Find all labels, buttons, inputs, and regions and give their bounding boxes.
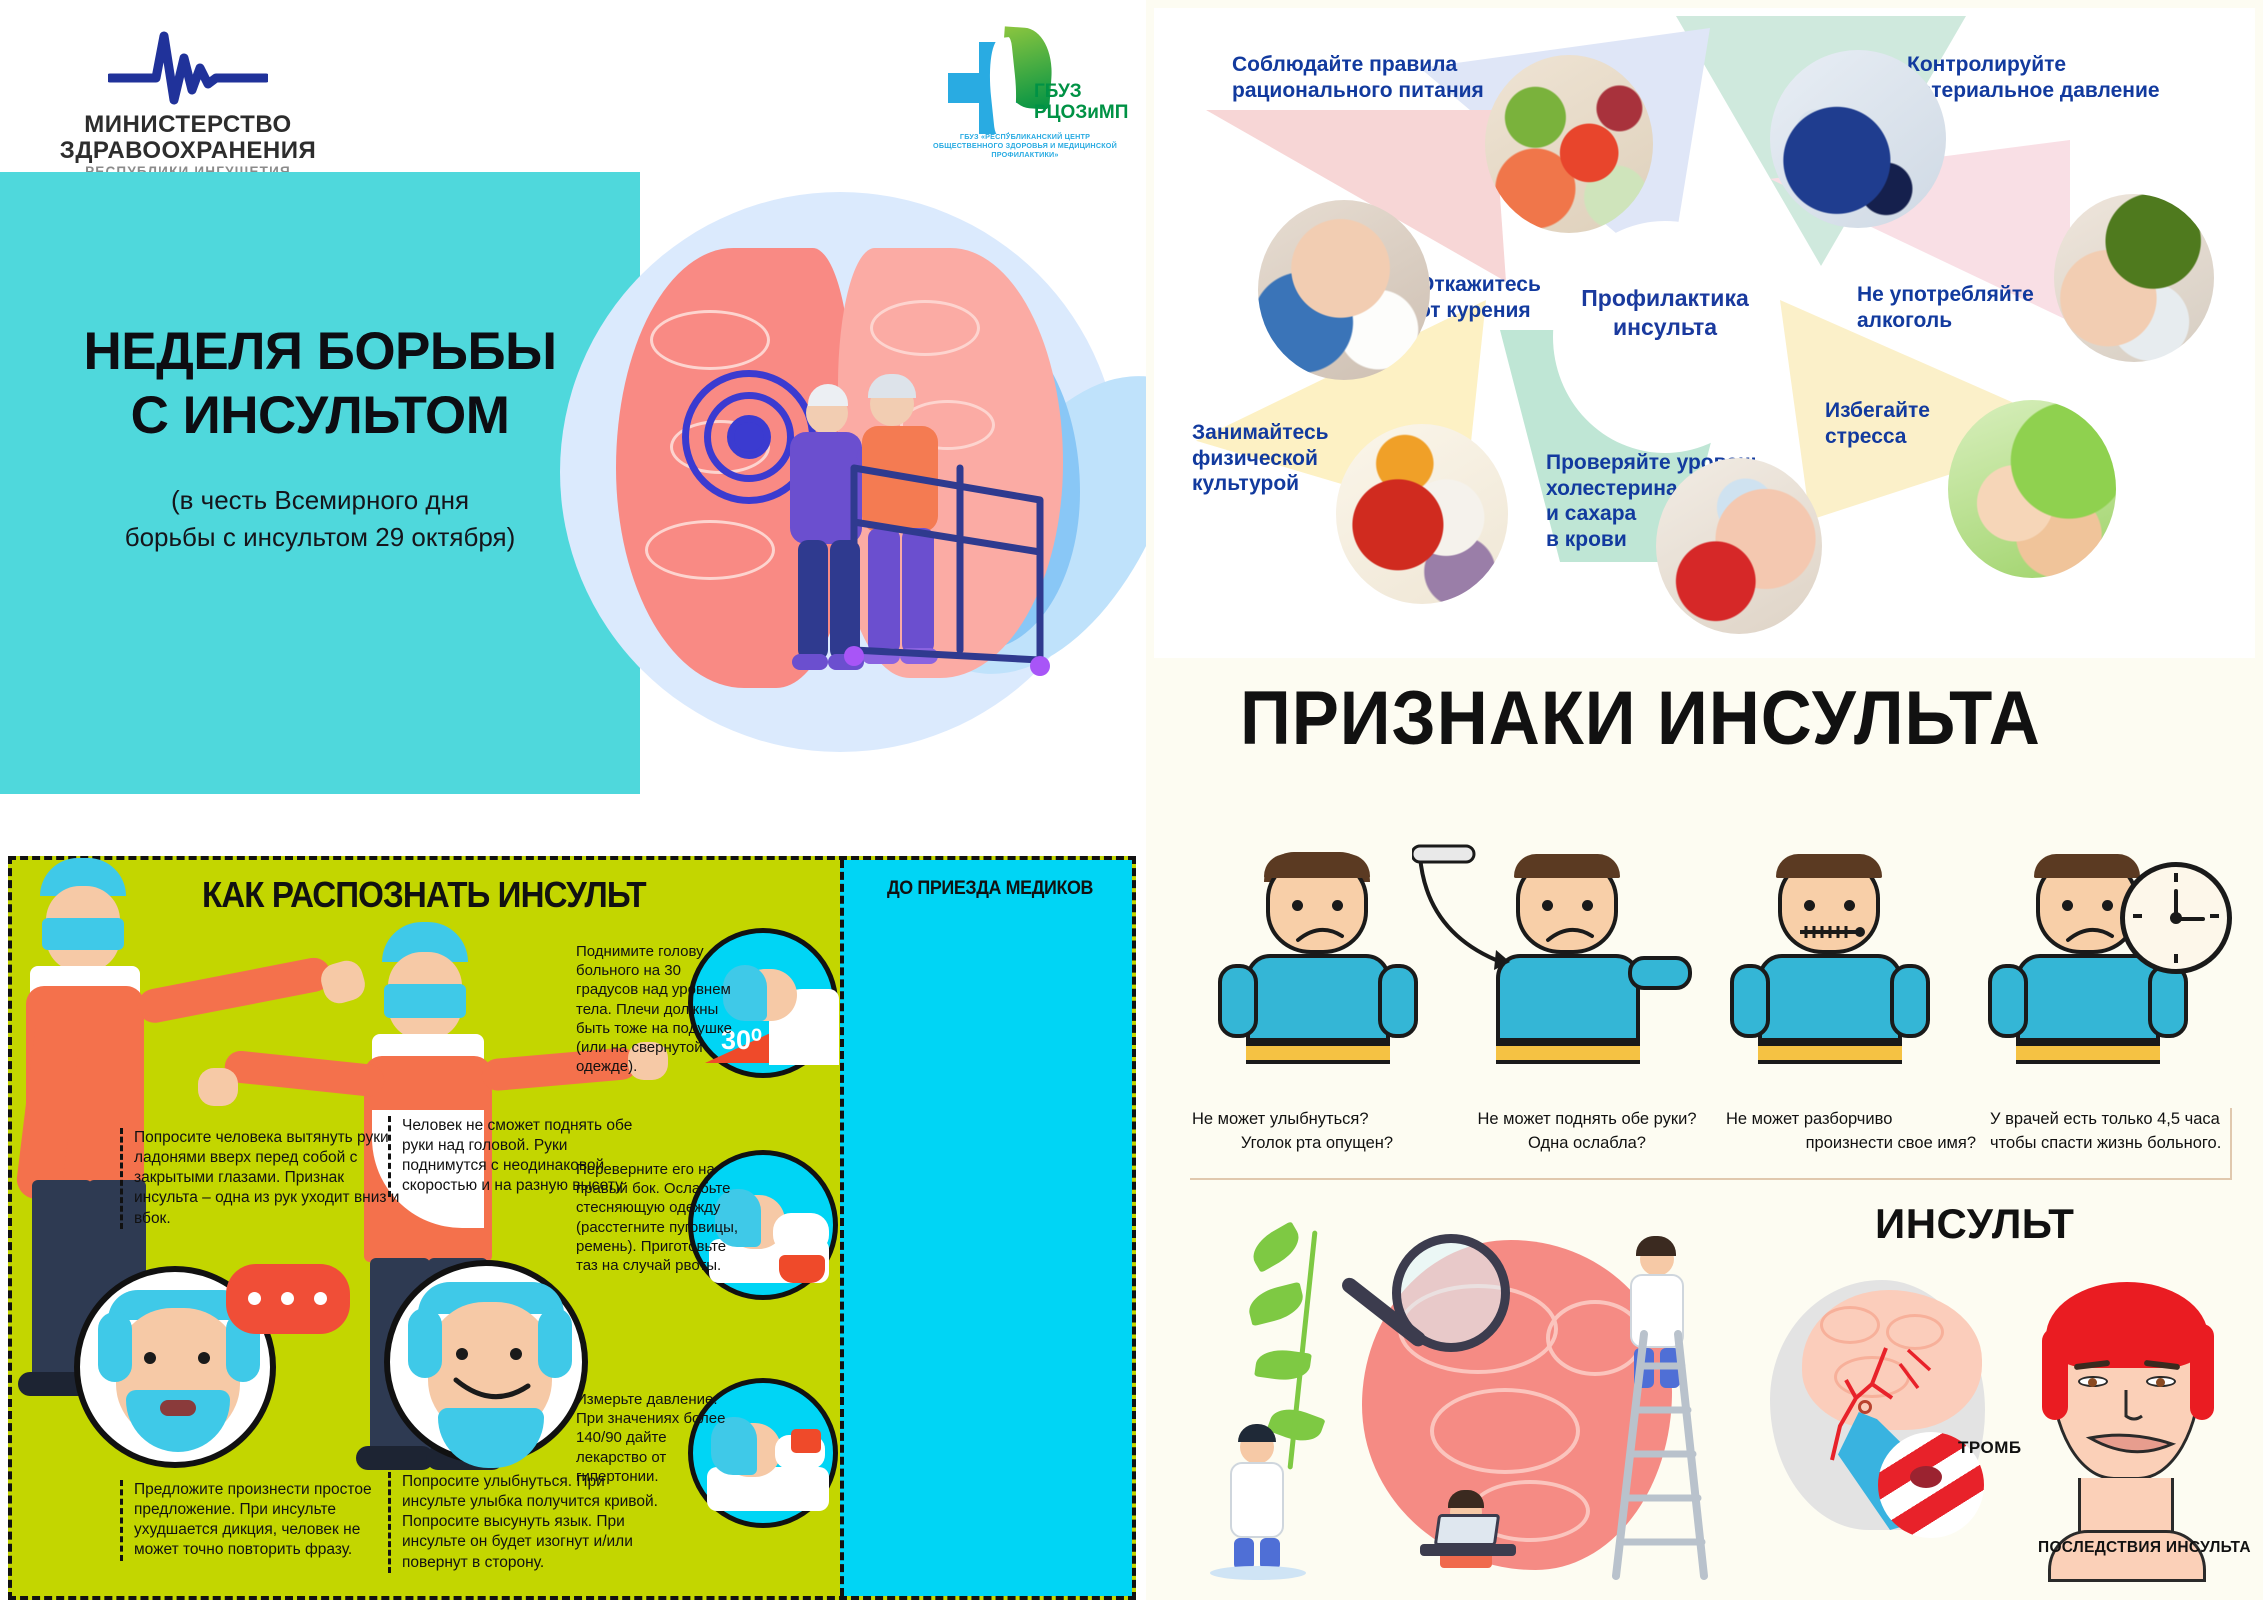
recognize-panel-header: КАК РАСПОЗНАТЬ ИНСУЛЬТ xyxy=(12,860,842,926)
brain-gyrus xyxy=(650,310,770,370)
recognize-text-smile: Попросите улыбнуться. При инсульте улыбк… xyxy=(388,1472,668,1573)
prevention-label-nutrition: Соблюдайте правила рационального питания xyxy=(1232,52,1484,103)
gbuz-abbr-line1: ГБУЗ xyxy=(1034,82,1126,103)
caption-divider xyxy=(1190,1178,2232,1180)
sign-figure-arms xyxy=(1468,852,1692,1082)
ministry-logo-name: МИНИСТЕРСТВО ЗДРАВООХРАНЕНИЯ xyxy=(58,112,318,164)
stroke-consequence-label: ПОСЛЕДСТВИЯ ИНСУЛЬТА xyxy=(2038,1539,2251,1557)
stroke-section-title: ИНСУЛЬТ xyxy=(1875,1200,2074,1248)
recognize-text-arms-forward: Попросите человека вытянуть руки ладоням… xyxy=(120,1128,402,1229)
ministry-logo-line2: ЗДРАВООХРАНЕНИЯ xyxy=(58,138,318,164)
prevention-label-alcohol: Не употребляйте алкоголь xyxy=(1857,282,2034,333)
photo-pouring-alcohol xyxy=(2054,194,2214,362)
zipper-mouth-icon xyxy=(1796,918,1868,948)
prevention-center-circle: Профилактика инсульта xyxy=(1560,228,1770,446)
thrombus-label: ТРОМБ xyxy=(1958,1438,2022,1458)
sign-caption-arms: Не может поднять обе руки? Одна ослабла? xyxy=(1448,1108,1726,1156)
ministry-logo: МИНИСТЕРСТВО ЗДРАВООХРАНЕНИЯ РЕСПУБЛИКИ … xyxy=(58,28,318,158)
gbuz-logo: ГБУЗ РЦОЗиМП ГБУЗ «РЕСПУБЛИКАНСКИЙ ЦЕНТР… xyxy=(930,28,1120,168)
prevention-label-blood-pressure: Контролируйте артериальное давление xyxy=(1907,52,2160,103)
prevention-label-stress: Избегайте стресса xyxy=(1825,398,1930,449)
prevention-center-line1: Профилактика xyxy=(1560,284,1770,313)
speech-bubble xyxy=(226,1264,350,1334)
signs-section-title: ПРИЗНАКИ ИНСУЛЬТА xyxy=(1240,675,2041,762)
prevention-label-smoking: Откажитесь от курения xyxy=(1418,272,1541,323)
gbuz-logo-subtitle: ГБУЗ «РЕСПУБЛИКАНСКИЙ ЦЕНТР ОБЩЕСТВЕННОГ… xyxy=(930,132,1120,159)
brain-illustration xyxy=(470,170,1136,800)
infographic-page: МИНИСТЕРСТВО ЗДРАВООХРАНЕНИЯ РЕСПУБЛИКИ … xyxy=(0,0,2263,1600)
sign-figure-smile xyxy=(1218,852,1418,1082)
drooping-mouth-icon xyxy=(2084,1428,2180,1466)
arrow-arm-falling-icon xyxy=(1412,838,1542,994)
brain-gyrus xyxy=(870,300,980,356)
prevention-label-physical-activity: Занимайтесь физической культурой xyxy=(1192,420,1329,497)
before-medics-text-pressure: Измерьте давление. При значениях более 1… xyxy=(576,1390,741,1486)
sign-caption-speech: Не может разборчиво произнести свое имя? xyxy=(1726,1108,1976,1156)
recognize-text-speech: Предложите произнести простое предложени… xyxy=(120,1480,380,1561)
pulse-wave-icon xyxy=(108,28,268,114)
prevention-center-line2: инсульта xyxy=(1560,313,1770,342)
photo-glucometer xyxy=(1656,458,1822,634)
prevention-center-label: Профилактика инсульта xyxy=(1560,284,1770,342)
left-column: МИНИСТЕРСТВО ЗДРАВООХРАНЕНИЯ РЕСПУБЛИКИ … xyxy=(0,0,1136,1600)
before-medics-panel: ДО ПРИЕЗДА МЕДИКОВ 30⁰ Поднимите голову … xyxy=(840,860,1132,1596)
recognize-stroke-panel: КАК РАСПОЗНАТЬ ИНСУЛЬТ xyxy=(8,856,1136,1600)
photo-breaking-cigarette xyxy=(1258,200,1430,380)
photo-blood-pressure-monitor xyxy=(1770,50,1946,228)
sign-figure-speech xyxy=(1730,852,1930,1082)
photo-happy-family xyxy=(1948,400,2116,578)
ministry-logo-line1: МИНИСТЕРСТВО xyxy=(58,112,318,138)
sign-caption-smile: Не может улыбнуться? Уголок рта опущен? xyxy=(1192,1108,1442,1156)
before-medics-title: ДО ПРИЕЗДА МЕДИКОВ xyxy=(853,878,1127,900)
recognize-panel-title: КАК РАСПОЗНАТЬ ИНСУЛЬТ xyxy=(202,874,646,916)
gbuz-abbreviation: ГБУЗ РЦОЗиМП xyxy=(1034,82,1126,124)
face-circle-smile xyxy=(384,1260,588,1464)
brain-gyrus xyxy=(645,520,775,580)
gbuz-abbr-line2: РЦОЗиМП xyxy=(1034,103,1126,124)
before-medics-text-elevate: Поднимите голову больного на 30 градусов… xyxy=(576,942,741,1076)
photo-sports-equipment xyxy=(1336,424,1508,604)
photo-healthy-food xyxy=(1485,55,1653,233)
ladder-icon xyxy=(1600,1330,1730,1580)
before-medics-text-side-position: Переверните его на правый бок. Ослабьте … xyxy=(576,1160,741,1275)
clock-icon xyxy=(2120,862,2232,974)
walker-frame-icon xyxy=(840,460,1080,690)
sign-caption-time: У врачей есть только 4,5 часа чтобы спас… xyxy=(1990,1108,2240,1156)
